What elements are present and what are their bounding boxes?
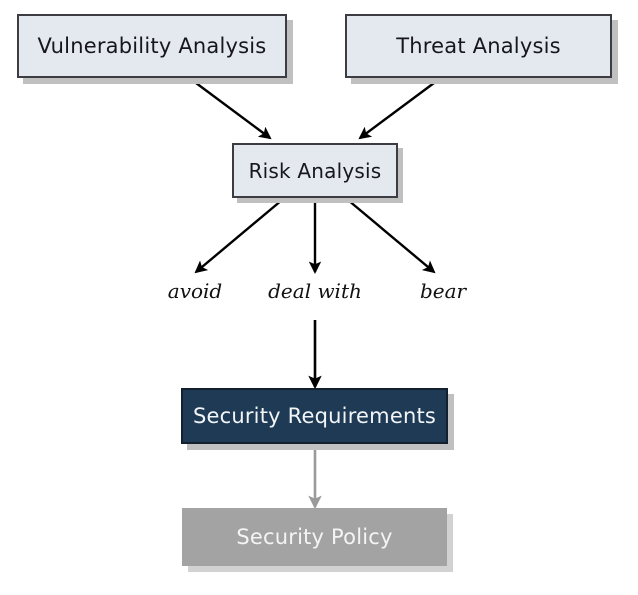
node-vulnerability-analysis[interactable]: Vulnerability Analysis	[17, 14, 287, 78]
edge-risk-to-avoid	[196, 200, 282, 272]
edge-label-bear: bear	[373, 279, 513, 303]
node-vulnerability-analysis-label: Vulnerability Analysis	[38, 36, 267, 57]
node-security-policy[interactable]: Security Policy	[182, 508, 447, 566]
node-security-requirements-label: Security Requirements	[193, 406, 436, 427]
node-risk-analysis-label: Risk Analysis	[249, 161, 382, 181]
edge-risk-to-bear	[348, 200, 434, 272]
diagram-canvas: Vulnerability Analysis Threat Analysis R…	[0, 0, 638, 595]
node-risk-analysis[interactable]: Risk Analysis	[232, 143, 398, 198]
node-threat-analysis[interactable]: Threat Analysis	[345, 14, 612, 78]
node-security-policy-label: Security Policy	[236, 527, 392, 548]
node-threat-analysis-label: Threat Analysis	[396, 36, 561, 57]
edge-label-avoid: avoid	[125, 279, 265, 303]
edge-vulnerability-to-risk	[192, 80, 270, 138]
edge-label-deal-with: deal with	[245, 279, 385, 303]
node-security-requirements[interactable]: Security Requirements	[181, 388, 448, 444]
edge-threat-to-risk	[360, 80, 438, 138]
